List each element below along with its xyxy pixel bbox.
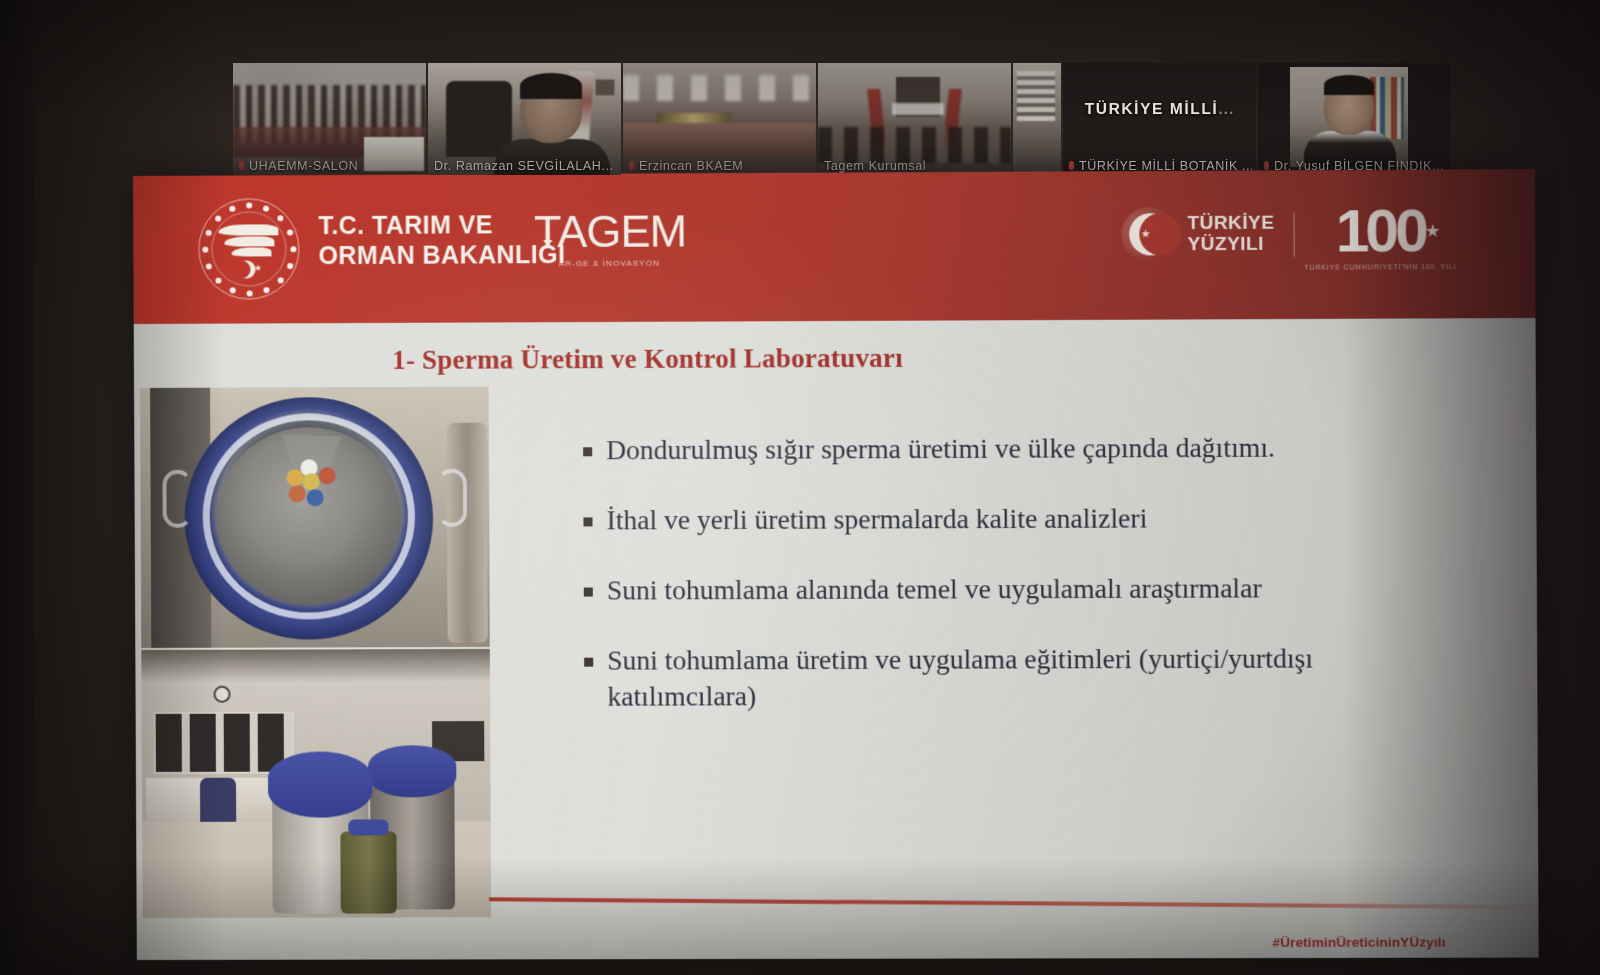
bullet-item: İthal ve yerli üretim spermalarda kalite…	[583, 500, 1389, 539]
centennial-star-icon	[1426, 224, 1440, 238]
participant-display-name: TÜRKİYE MİLLİ...	[1063, 101, 1256, 119]
projected-presentation-slide: T.C. TARIM VE ORMAN BAKANLIĞI TAGEM AR-G…	[133, 169, 1539, 960]
video-tile-label-row: Dr. Ramazan SEVGİLALAH...	[434, 159, 617, 173]
slide-bullet-list: Dondurulmuş sığır sperma üretimi ve ülke…	[583, 429, 1390, 749]
slide-footer-rule	[489, 897, 1536, 909]
bullet-square-icon	[583, 447, 592, 456]
bullet-item: Suni tohumlama üretim ve uygulama eğitim…	[584, 640, 1390, 715]
emblem-ring-dot	[229, 287, 235, 293]
crescent-moon-icon	[1121, 207, 1176, 261]
emblem-ring-dot	[246, 290, 252, 296]
video-tile-label: Dr. Ramazan SEVGİLALAH...	[434, 159, 614, 173]
straw-canister-caps	[286, 459, 340, 509]
emblem-ring-dot	[290, 246, 296, 252]
ministry-name: T.C. TARIM VE ORMAN BAKANLIĞI	[318, 210, 565, 271]
wall-logo-text	[892, 103, 944, 115]
video-tile-partial-room[interactable]	[1013, 63, 1061, 175]
bullet-text: İthal ve yerli üretim spermalarda kalite…	[606, 500, 1389, 539]
emblem-crescent-icon	[232, 260, 250, 278]
emblem-ring-dot	[215, 277, 221, 283]
emblem-ring-dot	[205, 229, 211, 235]
bullet-text: Suni tohumlama üretim ve uygulama eğitim…	[607, 640, 1390, 714]
bookshelf	[1370, 77, 1404, 139]
image-cryogenic-tank-top-view	[140, 387, 490, 648]
turkiye-yuzyili-text: TÜRKİYE YÜZYILI	[1187, 213, 1274, 256]
conference-table	[623, 123, 816, 157]
emblem-leaf-bird-shape	[218, 224, 278, 258]
bullet-text: Suni tohumlama alanında temel ve uygulam…	[607, 570, 1390, 609]
seated-participants	[818, 127, 1011, 163]
centennial-number: 100	[1336, 200, 1425, 263]
slide-hashtag: #ÜretiminÜreticininYÜzyılı	[1272, 935, 1445, 950]
microphone-muted-icon	[1264, 161, 1269, 170]
tagem-tagline: AR-GE & İNOVASYON	[534, 258, 685, 268]
image-laboratory-room	[141, 649, 491, 918]
bullet-square-icon	[583, 517, 592, 526]
slide-image-column	[140, 387, 491, 918]
bullet-item: Dondurulmuş sığır sperma üretimi ve ülke…	[583, 429, 1389, 468]
video-tile-turkiye-milli-botanik[interactable]: TÜRKİYE MİLLİ... TÜRKİYE MİLLİ BOTANİK .…	[1063, 63, 1256, 175]
bullet-square-icon	[584, 588, 593, 597]
tagem-wordmark: TAGEM	[534, 207, 685, 256]
wall-picture-frame	[595, 79, 615, 96]
microphone-muted-icon	[1069, 161, 1074, 170]
lab-ceiling	[141, 649, 490, 684]
video-tile-erzincan-bkaem[interactable]: Erzincan BKAEM	[623, 63, 816, 175]
emblem-ring-dot	[263, 205, 269, 211]
video-tile-dr-yusuf-bilgen-findik[interactable]: Dr. Yusuf BİLGEN FINDIK...	[1258, 63, 1451, 175]
tank-handle-left	[162, 470, 192, 528]
ceiling-lights	[623, 75, 816, 101]
participant-hair	[1324, 75, 1374, 95]
microphone-muted-icon	[239, 161, 244, 170]
tank-handle-right	[437, 469, 467, 527]
ministry-emblem-icon	[198, 198, 300, 300]
emblem-ring-dot	[263, 287, 269, 293]
window-blinds	[1017, 71, 1055, 121]
speaker-hair	[520, 73, 582, 99]
turkiye-yuzyili-logo: TÜRKİYE YÜZYILI	[1121, 207, 1275, 262]
bullet-item: Suni tohumlama alanında temel ve uygulam…	[584, 570, 1390, 609]
centennial-logo: 100 TÜRKİYE CUMHURİYETİ'NİN 100. YILI	[1304, 200, 1456, 272]
turkiye-yuzyili-line2: YÜZYILI	[1187, 234, 1274, 255]
background-pipe	[447, 423, 488, 643]
bullet-square-icon	[584, 658, 593, 667]
participant-display-name-text: TÜRKİYE MİLLİ	[1085, 101, 1219, 118]
office-chair	[446, 81, 512, 157]
slide-title: 1- Sperma Üretim ve Kontrol Laboratuvarı	[392, 341, 1297, 376]
emblem-ring-dot	[287, 263, 293, 269]
emblem-ring-dot	[286, 229, 292, 235]
emblem-ring-dot	[277, 215, 283, 221]
turkiye-yuzyili-line1: TÜRKİYE	[1187, 213, 1274, 234]
video-tile-uhaemm-salon[interactable]: UHAEMM-SALON	[233, 63, 426, 175]
video-tile-label: Erzincan BKAEM	[639, 159, 743, 173]
tagem-logo: TAGEM AR-GE & İNOVASYON	[534, 207, 685, 268]
emblem-ring-dot	[229, 205, 235, 211]
video-tile-label-row: UHAEMM-SALON	[239, 159, 422, 173]
logo-divider	[1293, 213, 1295, 257]
slide-header-band: T.C. TARIM VE ORMAN BAKANLIĞI TAGEM AR-G…	[133, 169, 1536, 324]
wall-clock-icon	[214, 686, 231, 703]
emblem-ring-dot	[202, 246, 208, 252]
left-wall-strip	[0, 0, 34, 975]
video-tile-label: UHAEMM-SALON	[249, 159, 358, 173]
video-tile-tagem-kurumsal[interactable]: Tagem Kurumsal	[818, 63, 1011, 175]
video-conference-gallery-strip: UHAEMM-SALON Dr. Ramazan SEVGİLALAH... E…	[233, 63, 1353, 178]
centennial-number-text: 100	[1336, 197, 1425, 265]
video-tile-dr-ramazan-sevgilalah[interactable]: Dr. Ramazan SEVGİLALAH...	[428, 63, 621, 175]
ministry-name-line1: T.C. TARIM VE	[318, 210, 565, 241]
emblem-ring-dot	[246, 202, 252, 208]
lab-cabinet-windows	[154, 712, 294, 774]
emblem-ring-dot	[215, 215, 221, 221]
emblem-ring-dot	[205, 263, 211, 269]
video-tile-label: Tagem Kurumsal	[824, 159, 926, 173]
video-tile-label-row: Erzincan BKAEM	[629, 159, 812, 173]
microphone-muted-icon	[629, 161, 634, 170]
ministry-name-line2: ORMAN BAKANLIĞI	[318, 240, 565, 271]
emblem-ring-dot	[277, 277, 283, 283]
centennial-subtitle: TÜRKİYE CUMHURİYETİ'NİN 100. YILI	[1304, 264, 1456, 272]
participant-webcam-thumbnail	[1290, 67, 1408, 167]
bullet-text: Dondurulmuş sığır sperma üretimi ve ülke…	[606, 429, 1389, 468]
green-dewar-flask	[340, 831, 397, 913]
participant-name-ellipsis: ...	[1218, 101, 1234, 118]
